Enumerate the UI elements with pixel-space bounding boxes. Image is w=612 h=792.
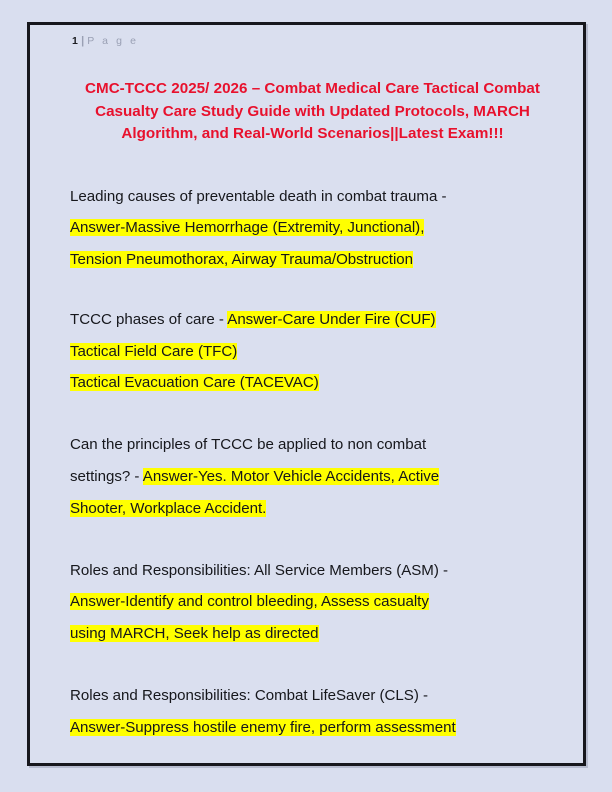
- qa-line: using MARCH, Seek help as directed: [70, 618, 555, 650]
- question-text: Can the principles of TCCC be applied to…: [70, 436, 426, 453]
- highlighted-answer-text: Answer-Suppress hostile enemy fire, perf…: [70, 719, 456, 736]
- question-text: TCCC phases of care -: [70, 311, 227, 328]
- qa-block-list: Leading causes of preventable death in c…: [70, 181, 555, 744]
- document-page-sheet: 1 | P a g e CMC-TCCC 2025/ 2026 – Combat…: [27, 22, 586, 766]
- qa-line: Answer-Massive Hemorrhage (Extremity, Ju…: [70, 212, 555, 244]
- qa-block-leading-causes: Leading causes of preventable death in c…: [70, 181, 555, 276]
- qa-block-roles-asm: Roles and Responsibilities: All Service …: [70, 555, 555, 650]
- qa-line: settings? - Answer-Yes. Motor Vehicle Ac…: [70, 461, 555, 493]
- qa-line: Tactical Evacuation Care (TACEVAC): [70, 367, 555, 399]
- qa-block-non-combat-settings: Can the principles of TCCC be applied to…: [70, 429, 555, 524]
- qa-line: Roles and Responsibilities: Combat LifeS…: [70, 680, 555, 712]
- qa-line: TCCC phases of care - Answer-Care Under …: [70, 304, 555, 336]
- highlighted-answer-text: Answer-Care Under Fire (CUF): [227, 311, 435, 328]
- qa-line: Answer-Identify and control bleeding, As…: [70, 586, 555, 618]
- qa-line: Tension Pneumothorax, Airway Trauma/Obst…: [70, 244, 555, 276]
- page-header-label: P a g e: [87, 35, 138, 47]
- qa-line: Roles and Responsibilities: All Service …: [70, 555, 555, 587]
- document-title: CMC-TCCC 2025/ 2026 – Combat Medical Car…: [74, 78, 552, 146]
- highlighted-answer-text: Shooter, Workplace Accident.: [70, 500, 266, 517]
- qa-line: Leading causes of preventable death in c…: [70, 181, 555, 213]
- qa-line: Shooter, Workplace Accident.: [70, 493, 555, 525]
- question-text: Leading causes of preventable death in c…: [70, 188, 447, 205]
- qa-line: Answer-Suppress hostile enemy fire, perf…: [70, 712, 555, 744]
- qa-block-tccc-phases: TCCC phases of care - Answer-Care Under …: [70, 304, 555, 399]
- highlighted-answer-text: Answer-Yes. Motor Vehicle Accidents, Act…: [143, 468, 439, 485]
- question-text: Roles and Responsibilities: Combat LifeS…: [70, 687, 428, 704]
- qa-line: Tactical Field Care (TFC): [70, 336, 555, 368]
- page-number: 1: [72, 35, 78, 47]
- highlighted-answer-text: Tactical Evacuation Care (TACEVAC): [70, 374, 319, 391]
- question-text: settings? -: [70, 468, 143, 485]
- page-header-separator: |: [81, 35, 84, 47]
- highlighted-answer-text: Tension Pneumothorax, Airway Trauma/Obst…: [70, 251, 413, 268]
- page-canvas: 1 | P a g e CMC-TCCC 2025/ 2026 – Combat…: [0, 0, 612, 792]
- page-header: 1 | P a g e: [72, 35, 555, 57]
- highlighted-answer-text: Answer-Massive Hemorrhage (Extremity, Ju…: [70, 219, 424, 236]
- highlighted-answer-text: Tactical Field Care (TFC): [70, 343, 237, 360]
- qa-block-roles-cls: Roles and Responsibilities: Combat LifeS…: [70, 680, 555, 744]
- highlighted-answer-text: Answer-Identify and control bleeding, As…: [70, 593, 429, 610]
- question-text: Roles and Responsibilities: All Service …: [70, 562, 448, 579]
- qa-line: Can the principles of TCCC be applied to…: [70, 429, 555, 461]
- highlighted-answer-text: using MARCH, Seek help as directed: [70, 625, 319, 642]
- document-page-content: 1 | P a g e CMC-TCCC 2025/ 2026 – Combat…: [30, 25, 583, 763]
